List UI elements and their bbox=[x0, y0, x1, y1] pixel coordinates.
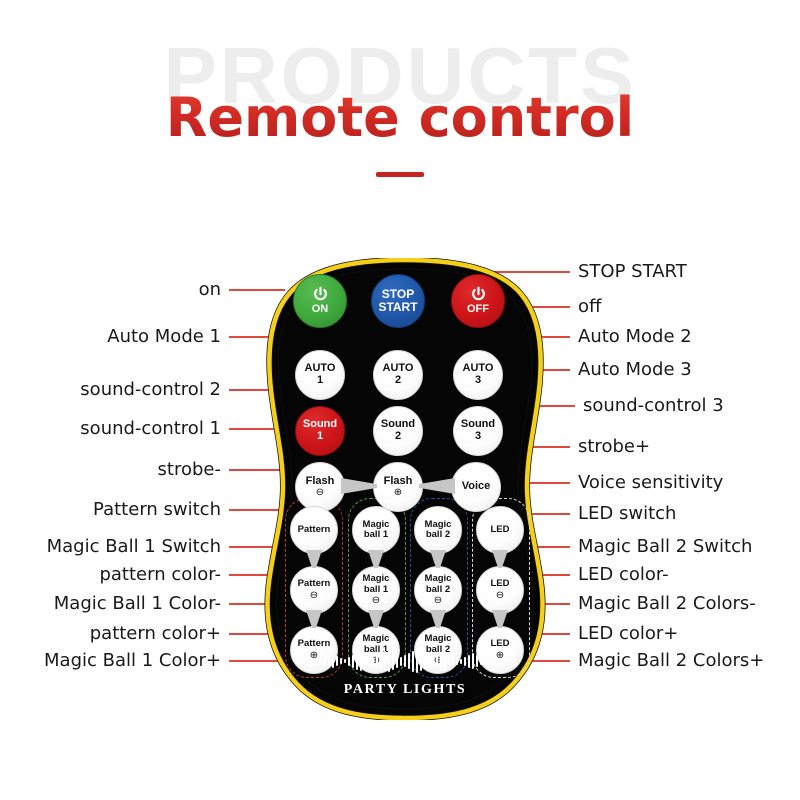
callout-sound-control-1: sound-control 1 bbox=[80, 420, 221, 438]
led-color-minus-button-label: LED bbox=[491, 579, 510, 589]
waveform-bar bbox=[396, 655, 398, 668]
waveform-bar bbox=[424, 654, 426, 669]
magic-ball-2-switch-button-label: Magic ball 2 bbox=[425, 520, 452, 541]
auto-2-button-label: AUTO 2 bbox=[383, 363, 414, 387]
on-button-label: ON bbox=[312, 304, 329, 316]
waveform-bar bbox=[440, 653, 442, 670]
button-connector-wedge bbox=[419, 478, 455, 494]
button-connector-wedge bbox=[492, 550, 508, 568]
waveform-bar bbox=[484, 659, 486, 664]
callout-magic-ball-1-color-plus: Magic Ball 1 Color+ bbox=[44, 652, 221, 670]
sound-3-button-label: Sound 3 bbox=[461, 419, 495, 443]
button-connector-wedge bbox=[341, 478, 377, 494]
button-connector-wedge bbox=[368, 550, 384, 568]
waveform-bar bbox=[436, 655, 438, 667]
waveform-bar bbox=[452, 655, 454, 667]
pattern-color-minus-button[interactable]: Pattern⊖ bbox=[290, 566, 338, 614]
callout-pattern-color-plus: pattern color+ bbox=[90, 625, 221, 643]
led-color-minus-button[interactable]: LED⊖ bbox=[476, 566, 524, 614]
callout-on: on bbox=[199, 281, 221, 299]
led-color-plus-button-label: LED bbox=[491, 639, 510, 649]
waveform-bar bbox=[480, 657, 482, 665]
callout-magic-ball-2-switch: Magic Ball 2 Switch bbox=[578, 538, 752, 556]
flash-minus-button-label: Flash bbox=[306, 476, 335, 488]
waveform-bar bbox=[344, 659, 346, 663]
callout-led-color-plus: LED color+ bbox=[578, 625, 678, 643]
magic-ball-2-color-minus-button-label: Magic ball 2 bbox=[425, 574, 452, 595]
auto-3-button[interactable]: AUTO 3 bbox=[453, 350, 503, 400]
callout-auto-mode-3: Auto Mode 3 bbox=[578, 361, 692, 379]
magic-ball-2-color-minus-button[interactable]: Magic ball 2⊖ bbox=[414, 566, 462, 614]
minus-circle-icon: ⊖ bbox=[316, 488, 324, 498]
waveform-bar bbox=[364, 654, 366, 668]
waveform-bar bbox=[444, 651, 446, 671]
auto-1-button[interactable]: AUTO 1 bbox=[295, 350, 345, 400]
waveform-bar bbox=[368, 657, 370, 666]
waveform-bar bbox=[392, 652, 394, 670]
waveform-bar bbox=[488, 660, 490, 663]
plus-circle-icon: ⊕ bbox=[310, 651, 318, 661]
waveform-bar bbox=[412, 651, 414, 672]
magic-ball-1-switch-button-label: Magic ball 1 bbox=[363, 520, 390, 541]
auto-2-button[interactable]: AUTO 2 bbox=[373, 350, 423, 400]
minus-circle-icon: ⊖ bbox=[372, 596, 380, 606]
callout-voice-sensitivity: Voice sensitivity bbox=[578, 474, 723, 492]
flash-minus-button[interactable]: Flash⊖ bbox=[295, 462, 345, 512]
plus-circle-icon: ⊕ bbox=[394, 488, 402, 498]
waveform-bar bbox=[464, 657, 466, 666]
waveform-bar bbox=[428, 656, 430, 667]
flash-plus-button[interactable]: Flash⊕ bbox=[373, 462, 423, 512]
waveform-bar bbox=[348, 657, 350, 666]
callout-auto-mode-1: Auto Mode 1 bbox=[107, 328, 221, 346]
button-connector-wedge bbox=[306, 610, 322, 628]
auto-1-button-label: AUTO 1 bbox=[305, 363, 336, 387]
waveform-bar bbox=[336, 656, 338, 666]
sound-3-button[interactable]: Sound 3 bbox=[453, 406, 503, 456]
waveform-bar bbox=[328, 656, 330, 667]
callout-strobe-minus: strobe- bbox=[158, 461, 221, 479]
waveform-bar bbox=[324, 658, 326, 665]
callout-strobe-plus: strobe+ bbox=[578, 438, 650, 456]
brand-label: PARTY LIGHTS bbox=[255, 682, 555, 698]
waveform-bar bbox=[372, 658, 374, 664]
waveform-bar bbox=[432, 657, 434, 665]
waveform-bar bbox=[456, 657, 458, 665]
pattern-switch-button-label: Pattern bbox=[298, 525, 331, 535]
waveform-bar bbox=[420, 652, 422, 671]
waveform-bar bbox=[460, 659, 462, 664]
voice-button-label: Voice bbox=[462, 481, 491, 493]
audio-waveform-graphic bbox=[320, 648, 490, 674]
stop-start-button-label: STOP START bbox=[378, 288, 417, 314]
callout-pattern-color-minus: pattern color- bbox=[99, 566, 221, 584]
callout-magic-ball-2-colors-plus: Magic Ball 2 Colors+ bbox=[578, 652, 764, 670]
callout-off: off bbox=[578, 298, 601, 316]
callout-stop-start: STOP START bbox=[578, 263, 687, 281]
power-icon bbox=[312, 286, 329, 304]
waveform-bar bbox=[400, 657, 402, 666]
waveform-bar bbox=[384, 651, 386, 671]
sound-1-button[interactable]: Sound 1 bbox=[295, 406, 345, 456]
waveform-bar bbox=[476, 655, 478, 667]
callout-led-color-minus: LED color- bbox=[578, 566, 669, 584]
page-header: PRODUCTS Remote control bbox=[0, 0, 800, 200]
voice-button[interactable]: Voice bbox=[451, 462, 501, 512]
waveform-bar bbox=[360, 652, 362, 671]
title-underline-rule bbox=[376, 172, 424, 177]
waveform-bar bbox=[380, 654, 382, 669]
auto-3-button-label: AUTO 3 bbox=[463, 363, 494, 387]
callout-auto-mode-2: Auto Mode 2 bbox=[578, 328, 692, 346]
callout-led-switch: LED switch bbox=[578, 505, 676, 523]
magic-ball-1-color-minus-button[interactable]: Magic ball 1⊖ bbox=[352, 566, 400, 614]
stop-start-button[interactable]: STOP START bbox=[371, 274, 425, 328]
callout-magic-ball-2-colors-minus: Magic Ball 2 Colors- bbox=[578, 595, 756, 613]
waveform-bar bbox=[448, 653, 450, 669]
off-button-label: OFF bbox=[467, 304, 489, 316]
button-connector-wedge bbox=[492, 610, 508, 628]
led-switch-button-label: LED bbox=[491, 525, 510, 535]
waveform-bar bbox=[472, 653, 474, 669]
callout-sound-control-3: sound-control 3 bbox=[583, 397, 724, 415]
flash-plus-button-label: Flash bbox=[384, 476, 413, 488]
on-button[interactable]: ON bbox=[293, 274, 347, 328]
waveform-bar bbox=[332, 654, 334, 668]
button-connector-wedge bbox=[430, 610, 446, 628]
sound-1-button-label: Sound 1 bbox=[303, 419, 337, 443]
magic-ball-1-switch-button[interactable]: Magic ball 1 bbox=[352, 506, 400, 554]
waveform-bar bbox=[320, 659, 322, 663]
callout-magic-ball-1-switch: Magic Ball 1 Switch bbox=[47, 538, 221, 556]
callout-pattern-switch: Pattern switch bbox=[93, 501, 221, 519]
waveform-bar bbox=[416, 650, 418, 673]
waveform-bar bbox=[352, 655, 354, 668]
remote-face: ONSTOP STARTOFFAUTO 1AUTO 2AUTO 3Sound 1… bbox=[255, 258, 555, 720]
page-title: Remote control bbox=[0, 88, 800, 147]
waveform-bar bbox=[340, 658, 342, 664]
product-page: PRODUCTS Remote control onAuto Mode 1sou… bbox=[0, 0, 800, 800]
callout-magic-ball-1-color-minus: Magic Ball 1 Color- bbox=[54, 595, 221, 613]
waveform-bar bbox=[404, 655, 406, 667]
magic-ball-1-color-minus-button-label: Magic ball 1 bbox=[363, 574, 390, 595]
sound-2-button-label: Sound 2 bbox=[381, 419, 415, 443]
magic-ball-2-switch-button[interactable]: Magic ball 2 bbox=[414, 506, 462, 554]
button-connector-wedge bbox=[306, 550, 322, 568]
plus-circle-icon: ⊕ bbox=[496, 651, 504, 661]
sound-2-button[interactable]: Sound 2 bbox=[373, 406, 423, 456]
off-button[interactable]: OFF bbox=[451, 274, 505, 328]
waveform-bar bbox=[388, 650, 390, 672]
waveform-bar bbox=[408, 653, 410, 669]
button-connector-wedge bbox=[430, 550, 446, 568]
waveform-bar bbox=[376, 656, 378, 666]
power-icon bbox=[470, 286, 487, 304]
waveform-bar bbox=[468, 655, 470, 668]
led-switch-button[interactable]: LED bbox=[476, 506, 524, 554]
waveform-bar bbox=[356, 653, 358, 670]
minus-circle-icon: ⊖ bbox=[434, 596, 442, 606]
minus-circle-icon: ⊖ bbox=[496, 591, 504, 601]
pattern-color-minus-button-label: Pattern bbox=[298, 579, 331, 589]
callout-sound-control-2: sound-control 2 bbox=[80, 381, 221, 399]
button-connector-wedge bbox=[368, 610, 384, 628]
minus-circle-icon: ⊖ bbox=[310, 591, 318, 601]
pattern-switch-button[interactable]: Pattern bbox=[290, 506, 338, 554]
remote-control-device: ONSTOP STARTOFFAUTO 1AUTO 2AUTO 3Sound 1… bbox=[255, 258, 555, 720]
